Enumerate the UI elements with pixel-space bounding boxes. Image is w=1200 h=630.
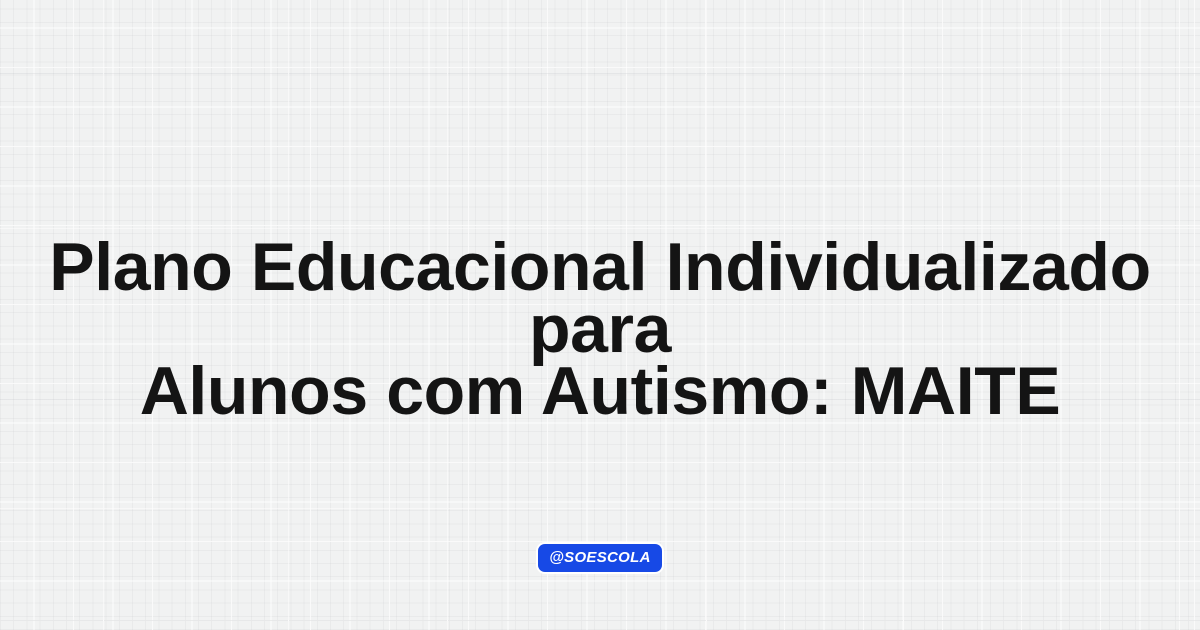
title-block: Plano Educacional Individualizado para A… [0,236,1200,422]
handle-badge-container: @SOESCOLA [0,544,1200,572]
site-handle-badge[interactable]: @SOESCOLA [538,544,662,572]
page-title: Plano Educacional Individualizado para A… [10,236,1190,422]
social-share-card: Plano Educacional Individualizado para A… [0,0,1200,630]
